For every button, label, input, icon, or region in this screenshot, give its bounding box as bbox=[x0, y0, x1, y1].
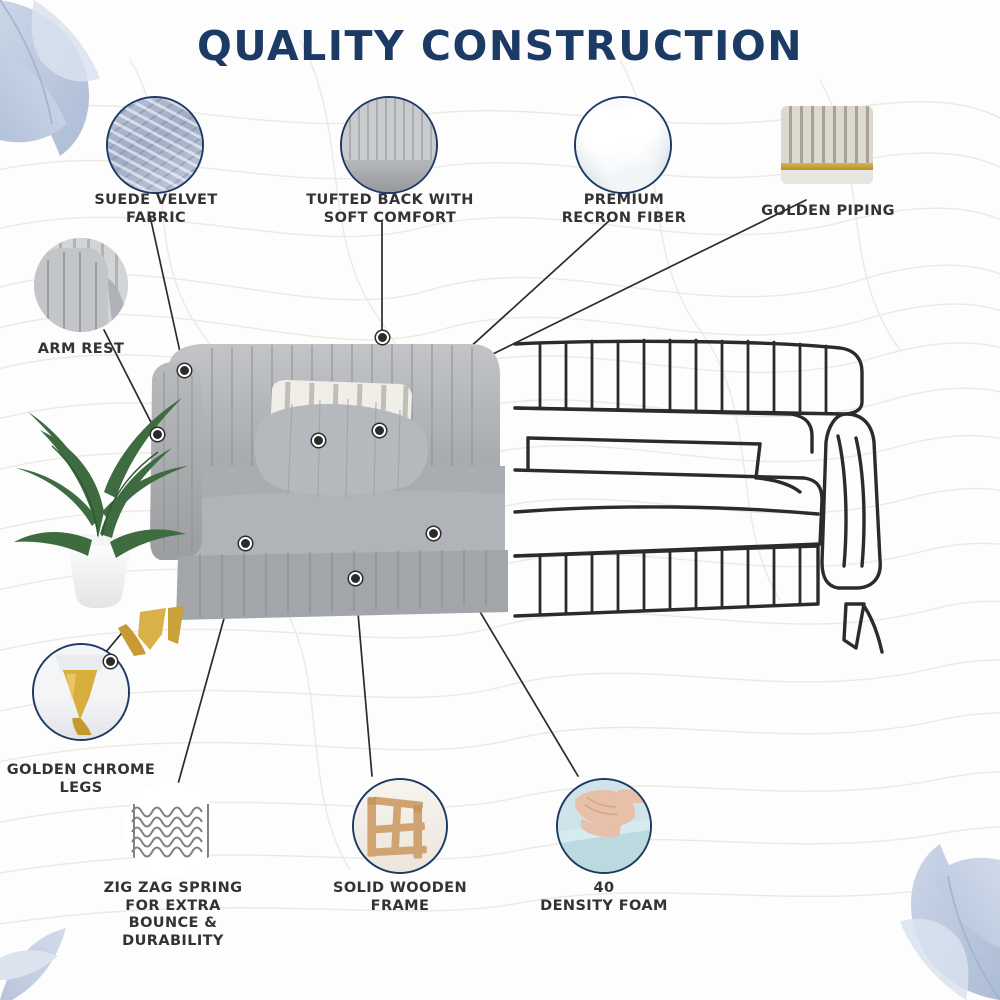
connector-dot-golden-piping bbox=[312, 434, 325, 447]
label-suede-velvet-fabric: SUEDE VELVET FABRIC bbox=[78, 192, 234, 227]
label-solid-wooden-frame: SOLID WOODEN FRAME bbox=[328, 880, 472, 915]
connector-dot-golden-chrome-legs bbox=[104, 655, 117, 668]
velvet-swatch bbox=[108, 98, 202, 192]
arm-rest-shape bbox=[34, 238, 128, 332]
label-golden-piping: GOLDEN PIPING bbox=[760, 203, 896, 221]
connector-dot-suede-velvet-fabric bbox=[178, 364, 191, 377]
density-foam-thumbnail bbox=[556, 778, 652, 874]
connector-dot-arm-rest bbox=[151, 428, 164, 441]
connector-dot-premium-recron-fiber bbox=[373, 424, 386, 437]
infographic-canvas: QUALITY CONSTRUCTION bbox=[0, 0, 1000, 1000]
label-zig-zag-spring: ZIG ZAG SPRING FOR EXTRA BOUNCE & DURABI… bbox=[82, 880, 264, 951]
golden-piping-swatch bbox=[781, 106, 873, 184]
tufted-back-thumbnail bbox=[340, 96, 438, 194]
foam-hand-shape bbox=[558, 780, 650, 872]
recron-fiber-swatch bbox=[576, 98, 670, 192]
connector-dot-zig-zag-spring bbox=[239, 537, 252, 550]
label-golden-chrome-legs: GOLDEN CHROME LEGS bbox=[6, 762, 156, 797]
golden-piping-thumbnail bbox=[781, 106, 873, 184]
wood-frame-shape bbox=[354, 780, 446, 872]
label-density-foam: 40 DENSITY FOAM bbox=[532, 880, 676, 915]
recron-fiber-thumbnail bbox=[574, 96, 672, 194]
page-title: QUALITY CONSTRUCTION bbox=[0, 22, 1000, 70]
tufted-back-swatch bbox=[342, 98, 436, 192]
arm-rest-thumbnail bbox=[34, 238, 128, 332]
wooden-frame-thumbnail bbox=[352, 778, 448, 874]
label-tufted-back: TUFTED BACK WITH SOFT COMFORT bbox=[306, 192, 474, 227]
label-premium-recron-fiber: PREMIUM RECRON FIBER bbox=[550, 192, 698, 227]
connector-dot-tufted-back bbox=[376, 331, 389, 344]
label-arm-rest: ARM REST bbox=[22, 341, 140, 359]
suede-velvet-fabric-thumbnail bbox=[106, 96, 204, 194]
connector-dot-solid-wooden-frame bbox=[349, 572, 362, 585]
connector-dot-density-foam bbox=[427, 527, 440, 540]
